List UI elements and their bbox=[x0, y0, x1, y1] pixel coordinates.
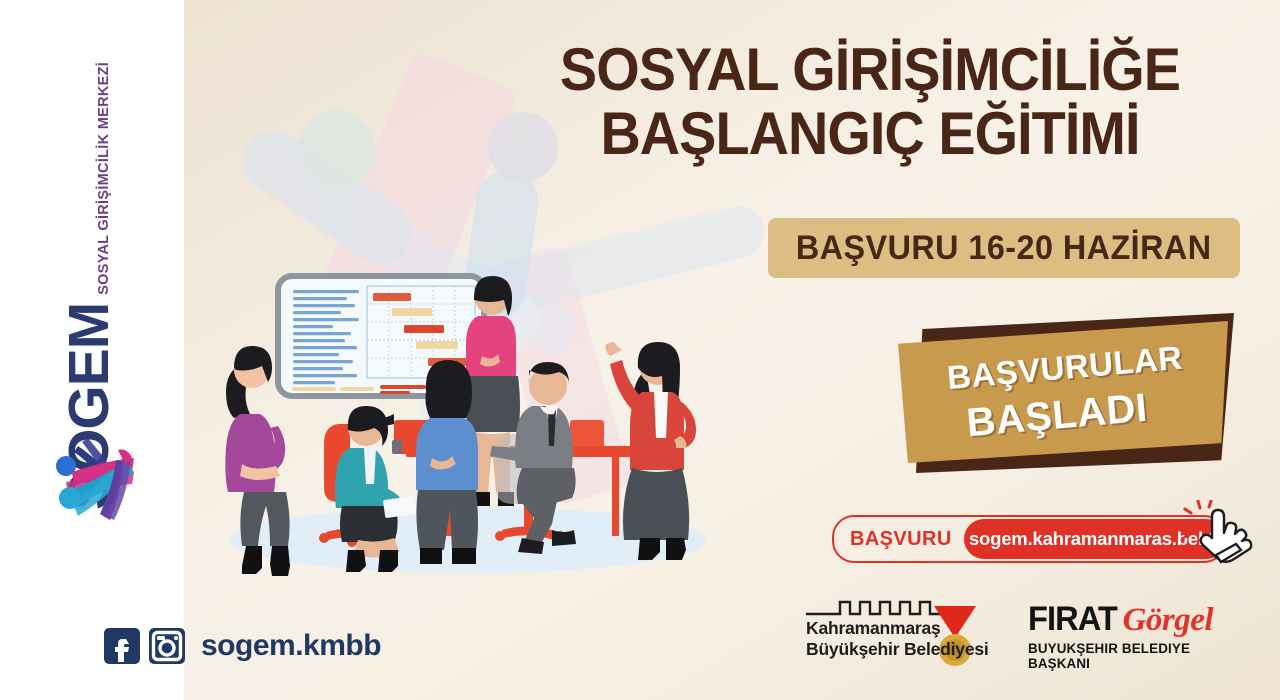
promotional-banner: SOGEM SOSYAL GİRİŞİMCİLİK MERKEZİ bbox=[0, 0, 1280, 700]
sogem-tagline: SOSYAL GİRİŞİMCİLİK MERKEZİ bbox=[96, 62, 118, 295]
social-handle: sogem.kmbb bbox=[201, 629, 381, 663]
pointing-hand-click-icon bbox=[1182, 500, 1254, 572]
background-circle-green bbox=[298, 110, 376, 188]
municipality-logo: Kahramanmaraş Büyükşehir Belediyesi bbox=[806, 596, 1021, 668]
municipality-name-line-1: Kahramanmaraş bbox=[806, 618, 989, 639]
business-meeting-team-illustration bbox=[196, 250, 726, 580]
social-media-footer: sogem.kmbb bbox=[104, 628, 381, 664]
municipality-name-line-2: Büyükşehir Belediyesi bbox=[806, 639, 989, 660]
applications-open-ribbon: BAŞVURULAR BAŞLADI bbox=[898, 305, 1248, 483]
mayor-role-text: BUYUKŞEHIR BELEDIYE BAŞKANI bbox=[1028, 641, 1253, 671]
headline-line-1: SOSYAL GİRİŞİMCİLİĞE bbox=[526, 38, 1214, 102]
ribbon-face: BAŞVURULAR BAŞLADI bbox=[898, 321, 1228, 463]
application-dates-text: BAŞVURU 16-20 HAZİRAN bbox=[796, 229, 1212, 268]
mayor-name-row: FIRAT Görgel bbox=[1028, 600, 1253, 639]
mayor-logo: FIRAT Görgel BUYUKŞEHIR BELEDIYE BAŞKANI bbox=[1028, 600, 1253, 664]
application-dates-banner: BAŞVURU 16-20 HAZİRAN bbox=[768, 218, 1240, 278]
mayor-last-name: Görgel bbox=[1123, 602, 1214, 639]
mayor-first-name: FIRAT bbox=[1028, 600, 1117, 639]
application-url-bar[interactable]: BAŞVURU sogem.kahramanmaras.bel.tr bbox=[832, 515, 1226, 563]
page-title: SOSYAL GİRİŞİMCİLİĞE BAŞLANGIÇ EĞİTİMİ bbox=[500, 38, 1240, 165]
municipality-logo-text: Kahramanmaraş Büyükşehir Belediyesi bbox=[806, 618, 989, 659]
facebook-icon[interactable] bbox=[104, 628, 140, 664]
headline-line-2: BAŞLANGIÇ EĞİTİMİ bbox=[526, 102, 1214, 166]
ribbon-line-2: BAŞLADI bbox=[965, 388, 1149, 444]
sogem-star-people-mark bbox=[44, 432, 146, 528]
url-bar-label: BAŞVURU bbox=[834, 528, 964, 551]
instagram-icon[interactable] bbox=[149, 628, 185, 664]
ribbon-line-1: BAŞVURULAR bbox=[946, 341, 1184, 394]
